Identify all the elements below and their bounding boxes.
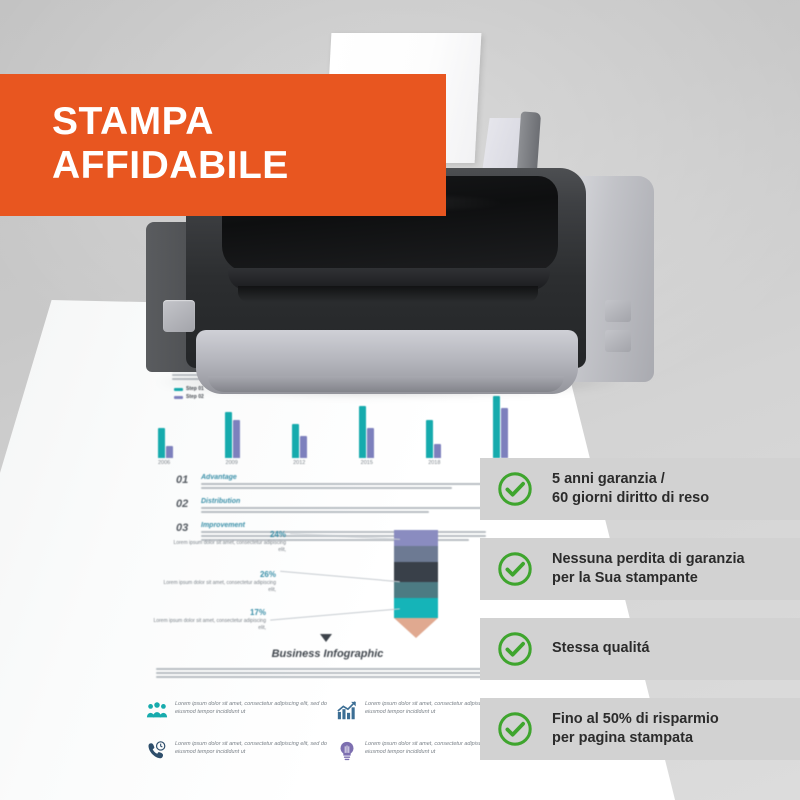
legend-swatch — [174, 388, 183, 391]
infographic-paragraph — [172, 370, 502, 382]
check-circle-icon — [496, 550, 534, 588]
donut-value: 37% — [391, 332, 445, 362]
feature-item-warranty: 5 anni garanzia / 60 giorni diritto di r… — [480, 458, 800, 520]
funnel-text: Lorem ipsum dolor sit amet, consectetur … — [166, 540, 286, 554]
legend-item: Step 01 — [174, 386, 204, 392]
list-item-title: Advantage — [201, 474, 486, 481]
funnel-value: 24% — [166, 530, 286, 539]
x-tick-label: 2018 — [428, 460, 440, 466]
check-circle-icon — [496, 470, 534, 508]
printer-right-panel — [566, 176, 654, 382]
check-circle-icon — [496, 630, 534, 668]
list-item: 02 Distribution — [176, 498, 486, 515]
funnel-diagram: 24% Lorem ipsum dolor sit amet, consecte… — [160, 530, 510, 640]
donut-chart-group: 35% 37% — [178, 332, 498, 362]
headline-line-2: AFFIDABILE — [52, 144, 446, 188]
list-item: 01 Advantage — [176, 474, 486, 491]
donut-chart-2: 37% — [391, 332, 445, 362]
down-arrow-icon — [320, 634, 332, 642]
paper-feature-text: Lorem ipsum dolor sit amet, consectetur … — [175, 740, 328, 757]
funnel-value: 26% — [156, 570, 276, 579]
list-item-title: Improvement — [201, 522, 486, 529]
funnel-callout: 24% Lorem ipsum dolor sit amet, consecte… — [166, 530, 286, 554]
list-item-index: 01 — [176, 474, 194, 486]
funnel-text: Lorem ipsum dolor sit amet, consectetur … — [146, 618, 266, 632]
bar-group — [225, 412, 240, 458]
bar-chart — [158, 396, 508, 458]
printer-lid-seam — [228, 268, 550, 290]
promo-banner-image: Banner Infographics 35% 37% Step 01 — [0, 0, 800, 800]
x-tick-label: 2012 — [293, 460, 305, 466]
bar-group — [292, 424, 307, 458]
printed-infographic: Banner Infographics 35% 37% Step 01 — [150, 318, 530, 788]
funnel-pencil-shape — [394, 530, 438, 638]
list-item-index: 02 — [176, 498, 194, 510]
paper-feature-text: Lorem ipsum dolor sit amet, consectetur … — [175, 700, 328, 717]
people-group-icon — [146, 700, 168, 722]
bar-group — [493, 396, 508, 458]
paper-feature-item: Lorem ipsum dolor sit amet, consectetur … — [146, 740, 328, 762]
headline-line-1: STAMPA — [52, 100, 446, 144]
feature-item-savings: Fino al 50% di risparmio per pagina stam… — [480, 698, 800, 760]
feature-list: 5 anni garanzia / 60 giorni diritto di r… — [480, 458, 800, 778]
funnel-text: Lorem ipsum dolor sit amet, consectetur … — [156, 580, 276, 594]
feature-label: Fino al 50% di risparmio per pagina stam… — [552, 710, 719, 748]
legend-label: Step 01 — [186, 386, 204, 392]
section-paragraph — [156, 668, 506, 680]
donut-chart-1: 35% — [231, 332, 285, 362]
paper-feature-item: Lorem ipsum dolor sit amet, consectetur … — [146, 700, 328, 722]
check-circle-icon — [496, 710, 534, 748]
funnel-callout: 26% Lorem ipsum dolor sit amet, consecte… — [156, 570, 276, 594]
section-title: Business Infographic — [150, 648, 505, 660]
headline-banner: STAMPA AFFIDABILE — [0, 74, 446, 216]
phone-clock-icon — [146, 740, 168, 762]
bar-group — [359, 406, 374, 458]
funnel-callout: 17% Lorem ipsum dolor sit amet, consecte… — [146, 608, 266, 632]
bar-chart-x-axis: 2006 2009 2012 2015 2018 2021 — [158, 460, 508, 466]
feature-item-no-warranty-loss: Nessuna perdita di garanzia per la Sua s… — [480, 538, 800, 600]
pencil-tip — [394, 618, 438, 638]
x-tick-label: 2006 — [158, 460, 170, 466]
growth-chart-icon — [336, 700, 358, 722]
paper-icon-features: Lorem ipsum dolor sit amet, consectetur … — [146, 700, 518, 780]
feature-label: Nessuna perdita di garanzia per la Sua s… — [552, 550, 745, 588]
printer-paper-guide — [517, 111, 541, 172]
donut-value: 35% — [231, 332, 285, 362]
feature-label: 5 anni garanzia / 60 giorni diritto di r… — [552, 470, 709, 508]
x-tick-label: 2009 — [226, 460, 238, 466]
feature-item-same-quality: Stessa qualitá — [480, 618, 800, 680]
funnel-value: 17% — [146, 608, 266, 617]
feature-label: Stessa qualitá — [552, 639, 650, 658]
lightbulb-icon — [336, 740, 358, 762]
x-tick-label: 2015 — [361, 460, 373, 466]
bar-group — [158, 428, 173, 458]
list-item-title: Distribution — [201, 498, 486, 505]
bar-group — [426, 420, 441, 458]
infographic-title: Banner Infographics — [150, 318, 530, 325]
